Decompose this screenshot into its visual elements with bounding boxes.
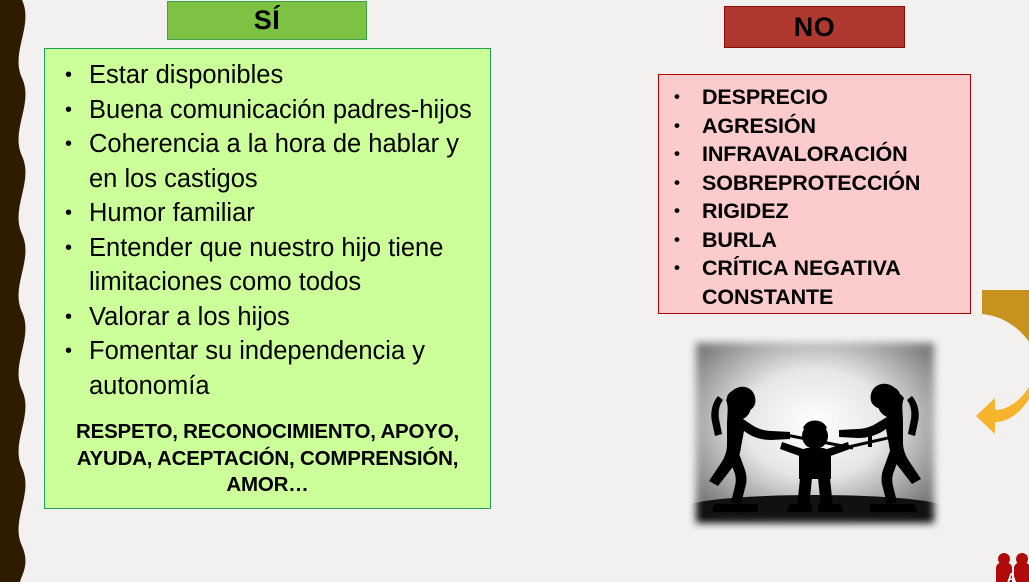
no-header-banner: NO (724, 6, 905, 48)
list-item: SOBREPROTECCIÓN (665, 169, 964, 198)
family-logo-icon: A (993, 552, 1029, 582)
slide-canvas: SÍ Estar disponibles Buena comunicación … (0, 0, 1029, 582)
list-item: Coherencia a la hora de hablar y en los … (53, 127, 482, 196)
list-item: Valorar a los hijos (53, 300, 482, 335)
no-item-label: AGRESIÓN (702, 114, 816, 138)
no-header-label: NO (794, 14, 836, 41)
no-bullet-list: DESPRECIO AGRESIÓN INFRAVALORACIÓN SOBRE… (665, 83, 964, 311)
list-item: Buena comunicación padres-hijos (53, 93, 482, 128)
no-content-box: DESPRECIO AGRESIÓN INFRAVALORACIÓN SOBRE… (658, 74, 971, 314)
list-item: BURLA (665, 226, 964, 255)
list-item: INFRAVALORACIÓN (665, 140, 964, 169)
list-item: RIGIDEZ (665, 197, 964, 226)
si-footer-text: RESPETO, RECONOCIMIENTO, APOYO, AYUDA, A… (53, 419, 482, 499)
no-item-label: INFRAVALORACIÓN (702, 142, 908, 166)
no-item-label: SOBREPROTECCIÓN (702, 171, 920, 195)
no-item-label: DESPRECIO (702, 85, 828, 109)
si-item-label: Buena comunicación padres-hijos (89, 96, 472, 124)
curved-cycle-arrow-icon (975, 282, 1029, 438)
list-item: CRÍTICA NEGATIVA CONSTANTE (665, 254, 964, 311)
list-item: Humor familiar (53, 196, 482, 231)
si-item-label: Valorar a los hijos (89, 303, 290, 331)
family-logo-letter: A (1007, 570, 1017, 582)
si-item-label: Entender que nuestro hijo tiene limitaci… (89, 234, 443, 297)
si-content-box: Estar disponibles Buena comunicación pad… (44, 48, 491, 509)
si-header-banner: SÍ (167, 1, 367, 40)
si-item-label: Coherencia a la hora de hablar y en los … (89, 130, 459, 193)
si-item-label: Fomentar su independencia y autonomía (89, 337, 425, 400)
list-item: AGRESIÓN (665, 112, 964, 141)
no-item-label: BURLA (702, 228, 777, 252)
list-item: DESPRECIO (665, 83, 964, 112)
no-item-label: CRÍTICA NEGATIVA CONSTANTE (702, 256, 900, 309)
si-header-label: SÍ (254, 7, 281, 34)
tug-of-war-photo-container (688, 336, 942, 530)
wavy-band-decoration (0, 0, 46, 582)
no-item-label: RIGIDEZ (702, 199, 789, 223)
tug-of-war-silhouette-photo (688, 336, 942, 530)
si-bullet-list: Estar disponibles Buena comunicación pad… (53, 58, 482, 403)
list-item: Estar disponibles (53, 58, 482, 93)
si-item-label: Estar disponibles (89, 61, 283, 89)
si-item-label: Humor familiar (89, 199, 255, 227)
list-item: Entender que nuestro hijo tiene limitaci… (53, 231, 482, 300)
list-item: Fomentar su independencia y autonomía (53, 334, 482, 403)
